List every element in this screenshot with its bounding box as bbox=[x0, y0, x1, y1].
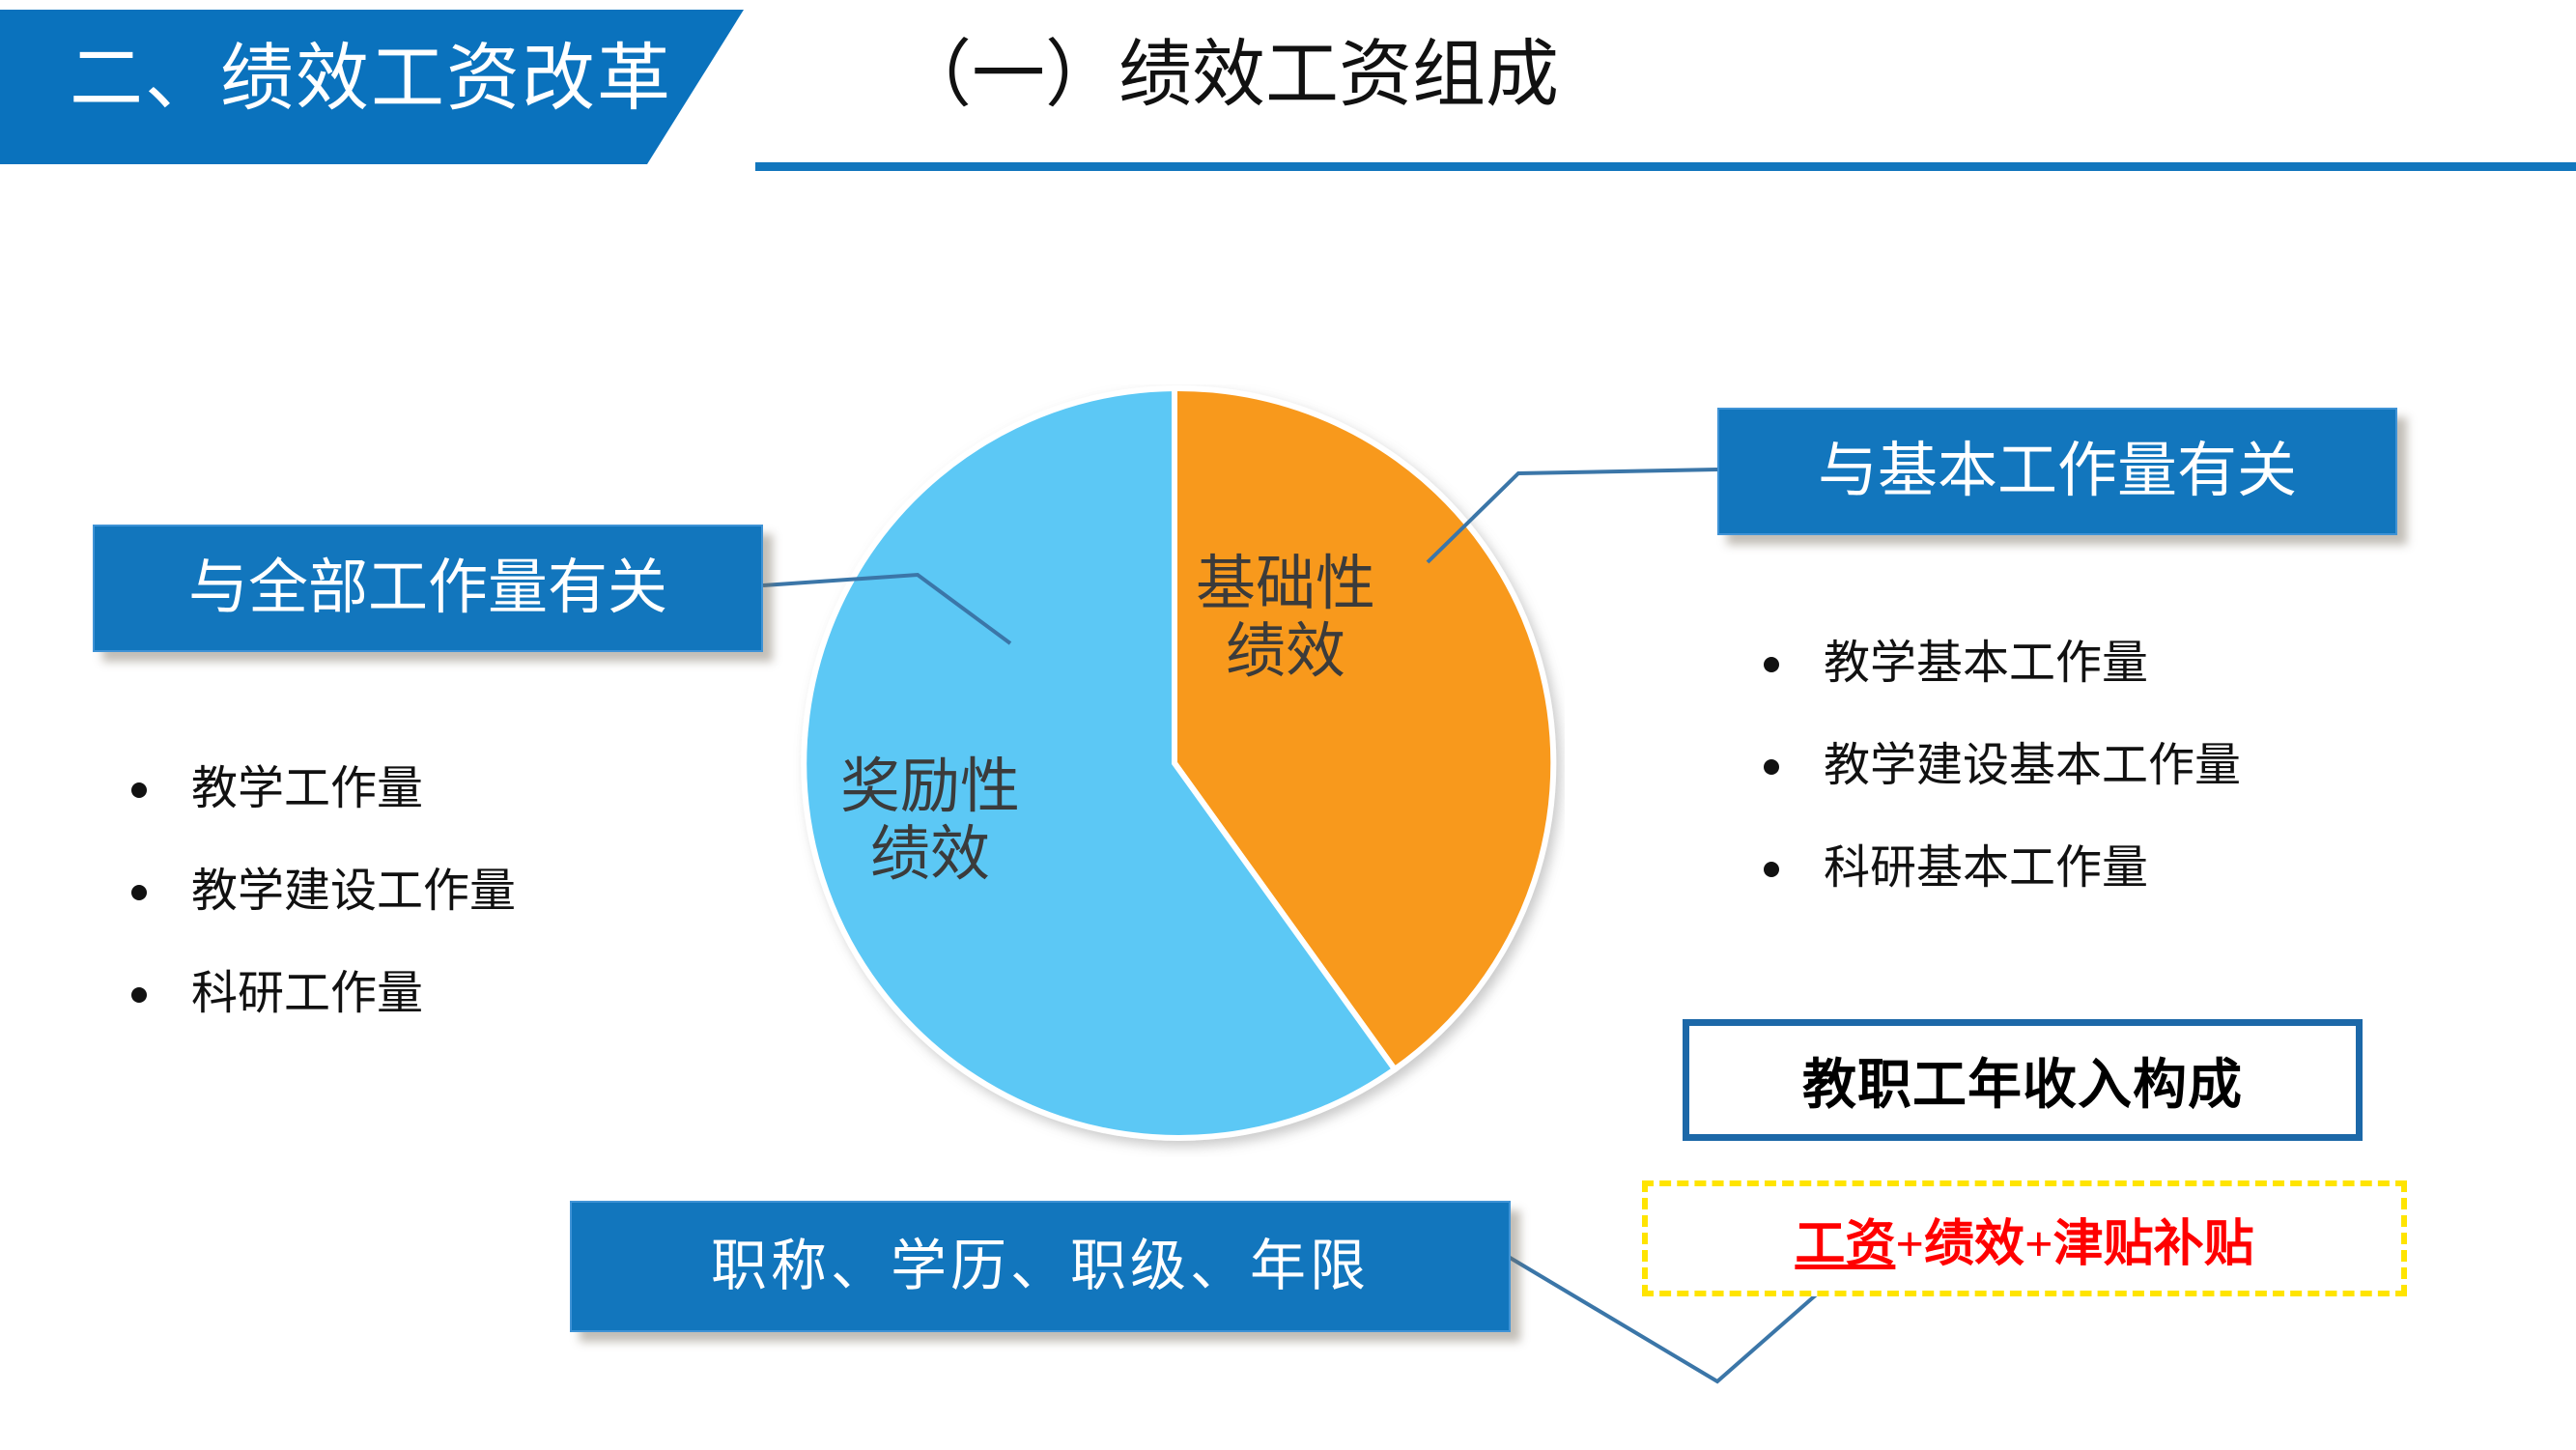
list-item: 科研基本工作量 bbox=[1739, 842, 2241, 895]
list-item: 教学工作量 bbox=[106, 763, 516, 815]
pie-chart-svg bbox=[792, 384, 1565, 1157]
pie-chart bbox=[792, 384, 1565, 1157]
income-composition-title: 教职工年收入构成 bbox=[1683, 1019, 2363, 1141]
list-item: 教学基本工作量 bbox=[1739, 638, 2241, 690]
header-banner-label: 二、绩效工资改革 bbox=[70, 33, 688, 126]
page-title: （一）绩效工资组成 bbox=[898, 21, 1559, 129]
callout-right-list: 教学基本工作量 教学建设基本工作量 科研基本工作量 bbox=[1739, 638, 2241, 945]
income-formula-rest: +绩效+津贴补贴 bbox=[1895, 1203, 2253, 1275]
callout-left-list: 教学工作量 教学建设工作量 科研工作量 bbox=[106, 763, 516, 1070]
callout-left-header[interactable]: 与全部工作量有关 bbox=[93, 525, 763, 652]
list-item: 科研工作量 bbox=[106, 968, 516, 1020]
callout-right-header[interactable]: 与基本工作量有关 bbox=[1717, 408, 2397, 535]
income-formula-salary: 工资 bbox=[1795, 1203, 1895, 1275]
list-item: 教学建设基本工作量 bbox=[1739, 740, 2241, 792]
slide-canvas: 二、绩效工资改革 （一）绩效工资组成 基础性 绩效 奖励性 绩效 bbox=[0, 0, 2576, 1450]
income-formula-box: 工资+绩效+津贴补贴 bbox=[1642, 1180, 2407, 1296]
list-item: 教学建设工作量 bbox=[106, 866, 516, 918]
header-rule bbox=[755, 162, 2576, 171]
callout-bottom-header[interactable]: 职称、学历、职级、年限 bbox=[570, 1201, 1511, 1332]
